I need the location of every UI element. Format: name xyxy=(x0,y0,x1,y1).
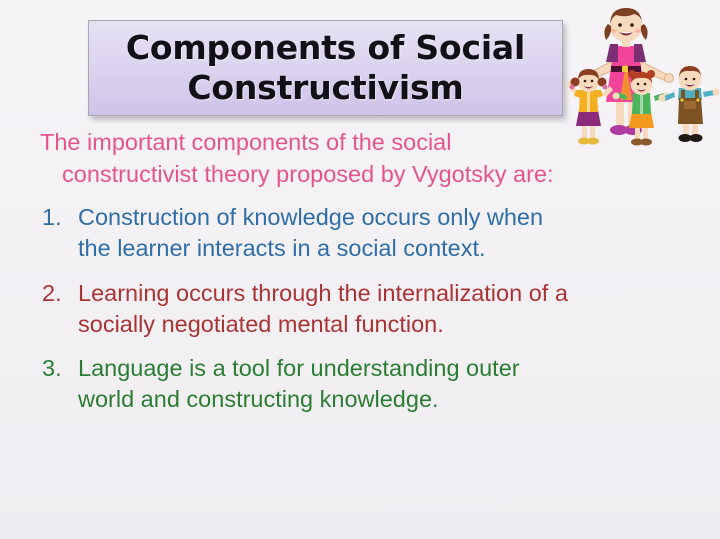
title-line-1: Components of Social xyxy=(126,28,525,67)
slide-canvas: Components of Social Constructivism The … xyxy=(0,0,720,539)
list-item: 1. Construction of knowledge occurs only… xyxy=(40,202,665,265)
list-item: 3. Language is a tool for understanding … xyxy=(40,353,665,416)
child-one-figure xyxy=(566,69,613,145)
list-item-text-line-1: Language is a tool for understanding out… xyxy=(78,353,665,384)
page-title: Components of Social Constructivism xyxy=(116,28,535,109)
list-item-text-line-2: world and constructing knowledge. xyxy=(78,384,665,415)
list-item-text-line-1: Construction of knowledge occurs only wh… xyxy=(78,202,665,233)
teacher-with-children-icon xyxy=(566,0,720,160)
list-item-number: 2. xyxy=(42,278,72,309)
title-box: Components of Social Constructivism xyxy=(88,20,563,116)
list-item-text-line-2: socially negotiated mental function. xyxy=(78,309,665,340)
components-list: 1. Construction of knowledge occurs only… xyxy=(40,202,665,429)
intro-paragraph: The important components of the social c… xyxy=(40,127,580,191)
intro-line-2: constructivist theory proposed by Vygots… xyxy=(40,159,580,191)
list-item: 2. Learning occurs through the internali… xyxy=(40,278,665,341)
list-item-number: 1. xyxy=(42,202,72,233)
list-item-text-line-1: Learning occurs through the internalizat… xyxy=(78,278,665,309)
list-item-text-line-2: the learner interacts in a social contex… xyxy=(78,233,665,264)
list-item-number: 3. xyxy=(42,353,72,384)
intro-line-1: The important components of the social xyxy=(40,129,451,155)
title-line-2: Constructivism xyxy=(187,68,463,107)
